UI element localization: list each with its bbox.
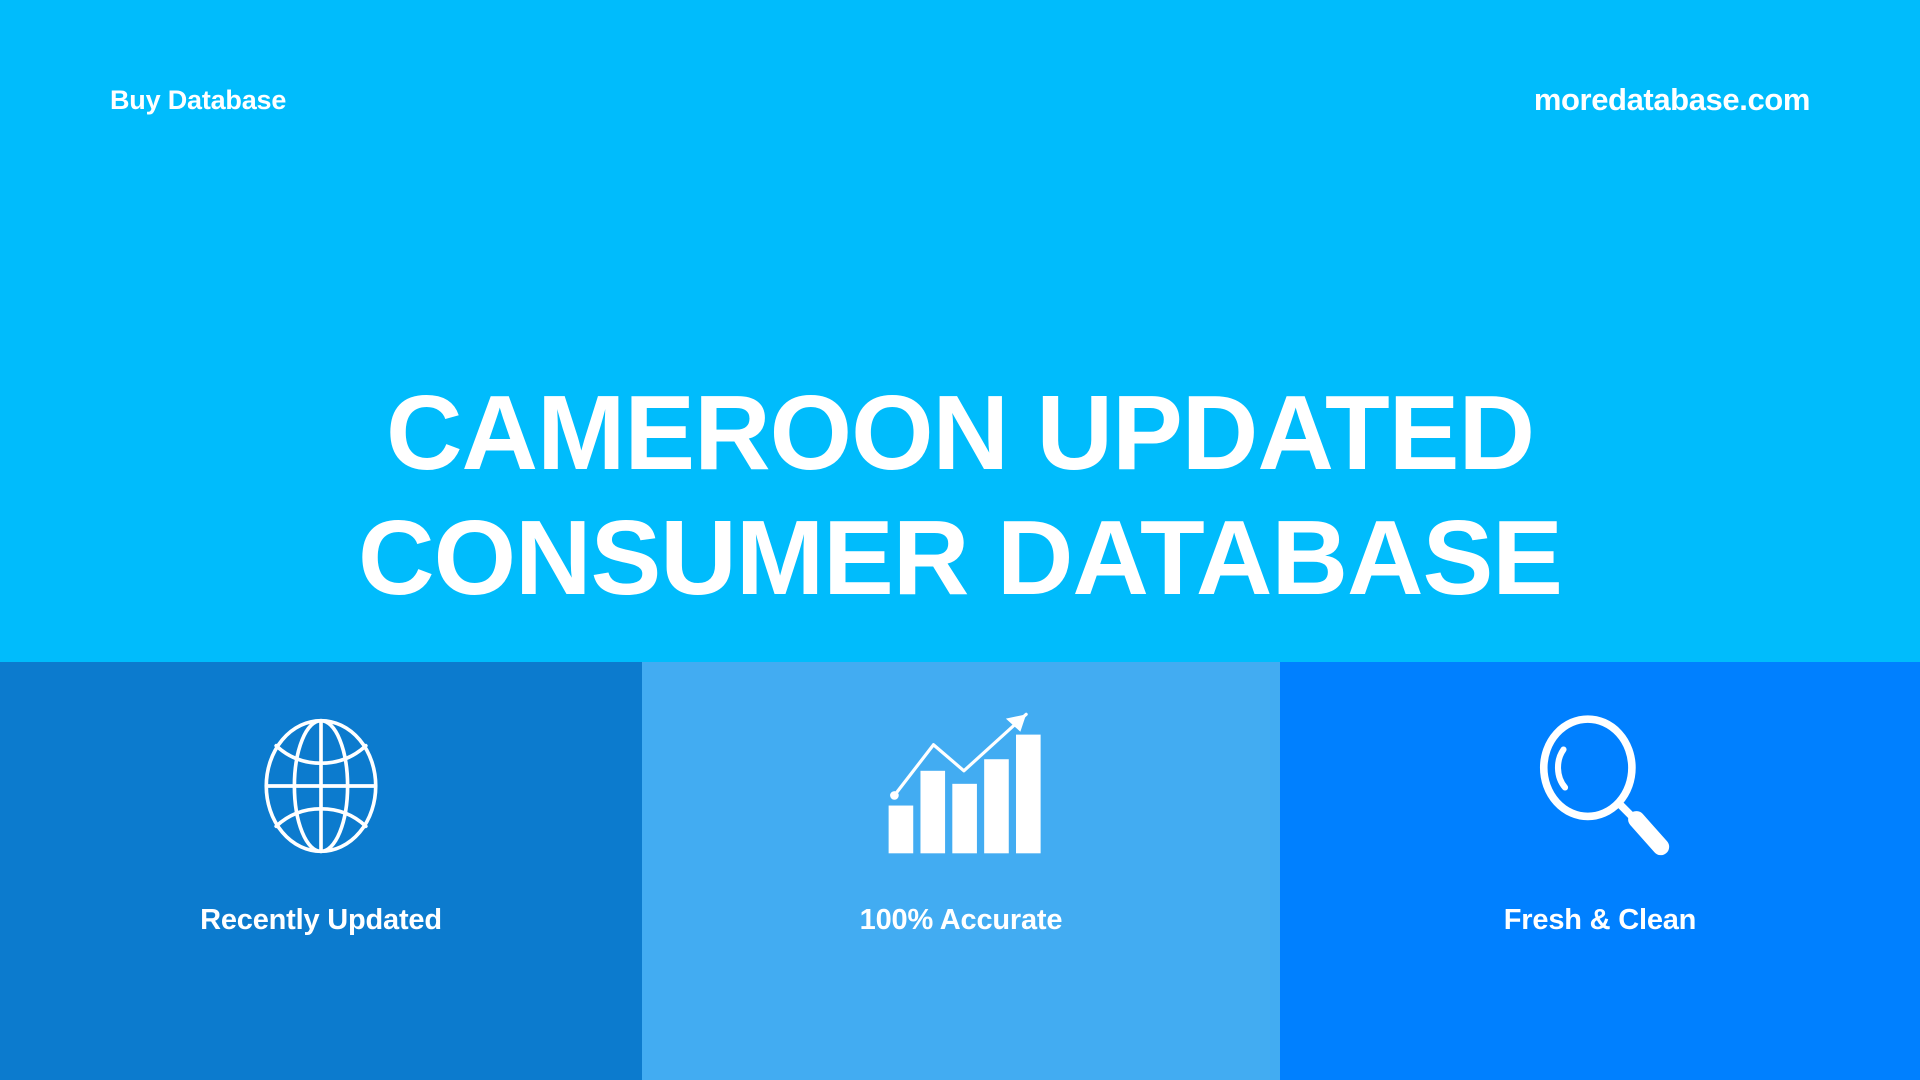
- brand-left-label[interactable]: Buy Database: [110, 85, 286, 116]
- globe-icon: [0, 706, 642, 866]
- growth-bar-chart-icon: [642, 706, 1280, 866]
- feature-strip: Recently Updated: [0, 662, 1920, 1080]
- magnifier-icon: [1280, 706, 1920, 866]
- feature-card-accurate[interactable]: 100% Accurate: [642, 662, 1280, 1080]
- feature-card-recently-updated[interactable]: Recently Updated: [0, 662, 642, 1080]
- feature-label-fresh-clean: Fresh & Clean: [1504, 904, 1696, 937]
- page-title-line-2: CONSUMER DATABASE: [80, 496, 1840, 621]
- site-domain-label[interactable]: moredatabase.com: [1534, 82, 1810, 118]
- page-title-line-1: CAMEROON UPDATED: [80, 371, 1840, 496]
- feature-label-recently-updated: Recently Updated: [200, 904, 442, 937]
- promo-banner: Buy Database moredatabase.com CAMEROON U…: [0, 0, 1920, 1080]
- hero-section: Buy Database moredatabase.com CAMEROON U…: [0, 0, 1920, 662]
- page-title: CAMEROON UPDATED CONSUMER DATABASE: [0, 371, 1920, 621]
- top-bar: Buy Database moredatabase.com: [0, 0, 1920, 200]
- feature-card-fresh-clean[interactable]: Fresh & Clean: [1280, 662, 1920, 1080]
- feature-label-accurate: 100% Accurate: [860, 904, 1063, 937]
